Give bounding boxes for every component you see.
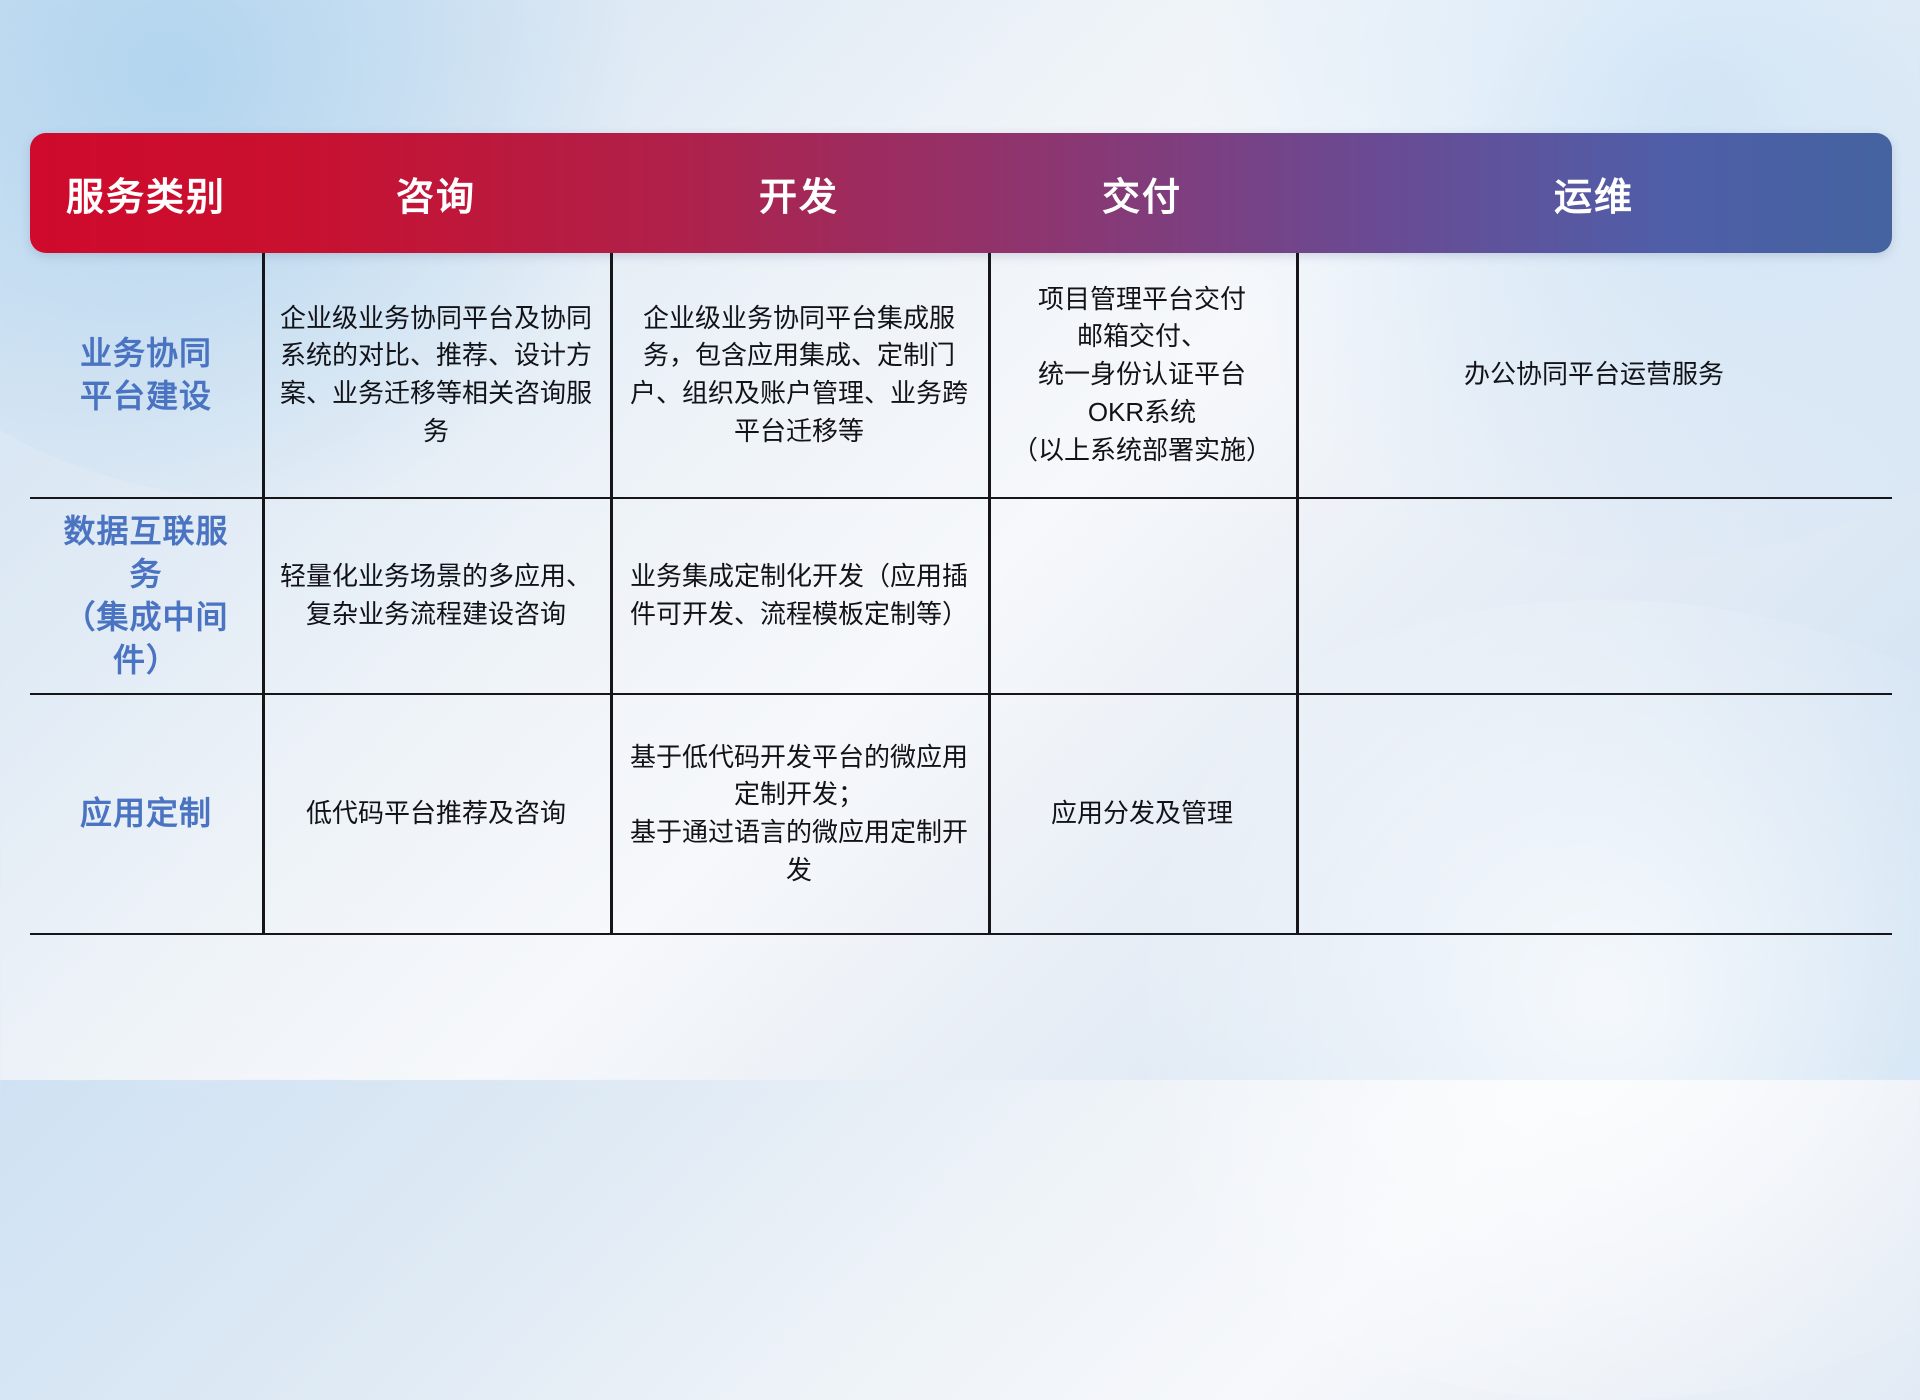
table-body: 业务协同平台建设 企业级业务协同平台及协同系统的对比、推荐、设计方案、业务迁移等…: [30, 253, 1892, 935]
column-header-delivery: 交付: [988, 166, 1296, 221]
cell-development-row1: 企业级业务协同平台集成服务，包含应用集成、定制门户、组织及账户管理、业务跨平台迁…: [610, 253, 988, 497]
row-label-data-interconnect: 数据互联服务（集成中间件）: [30, 499, 262, 693]
cell-consulting-row3: 低代码平台推荐及咨询: [262, 695, 610, 933]
table-header-row: 服务类别 咨询 开发 交付 运维: [30, 133, 1892, 253]
service-matrix-table: 服务类别 咨询 开发 交付 运维 业务协同平台建设 企业级业务协同平台及协同系统…: [30, 133, 1892, 953]
column-header-operations: 运维: [1296, 166, 1892, 221]
slide-canvas: 服务类别 咨询 开发 交付 运维 业务协同平台建设 企业级业务协同平台及协同系统…: [0, 0, 1920, 1080]
column-header-category: 服务类别: [30, 166, 262, 221]
cell-delivery-row2: [988, 499, 1296, 693]
cell-development-row2: 业务集成定制化开发（应用插件可开发、流程模板定制等）: [610, 499, 988, 693]
cell-delivery-row3: 应用分发及管理: [988, 695, 1296, 933]
cell-operations-row3: [1296, 695, 1892, 933]
table-row: 数据互联服务（集成中间件） 轻量化业务场景的多应用、复杂业务流程建设咨询 业务集…: [30, 499, 1892, 695]
table-row: 业务协同平台建设 企业级业务协同平台及协同系统的对比、推荐、设计方案、业务迁移等…: [30, 253, 1892, 499]
table-row: 应用定制 低代码平台推荐及咨询 基于低代码开发平台的微应用定制开发；基于通过语言…: [30, 695, 1892, 935]
cell-development-row3: 基于低代码开发平台的微应用定制开发；基于通过语言的微应用定制开发: [610, 695, 988, 933]
row-label-business-collaboration: 业务协同平台建设: [30, 253, 262, 497]
column-header-development: 开发: [610, 166, 988, 221]
cell-operations-row1: 办公协同平台运营服务: [1296, 253, 1892, 497]
column-header-consulting: 咨询: [262, 166, 610, 221]
cell-consulting-row2: 轻量化业务场景的多应用、复杂业务流程建设咨询: [262, 499, 610, 693]
row-label-app-customization: 应用定制: [30, 695, 262, 933]
cell-operations-row2: [1296, 499, 1892, 693]
cell-delivery-row1: 项目管理平台交付邮箱交付、统一身份认证平台OKR系统（以上系统部署实施）: [988, 253, 1296, 497]
cell-consulting-row1: 企业级业务协同平台及协同系统的对比、推荐、设计方案、业务迁移等相关咨询服务: [262, 253, 610, 497]
